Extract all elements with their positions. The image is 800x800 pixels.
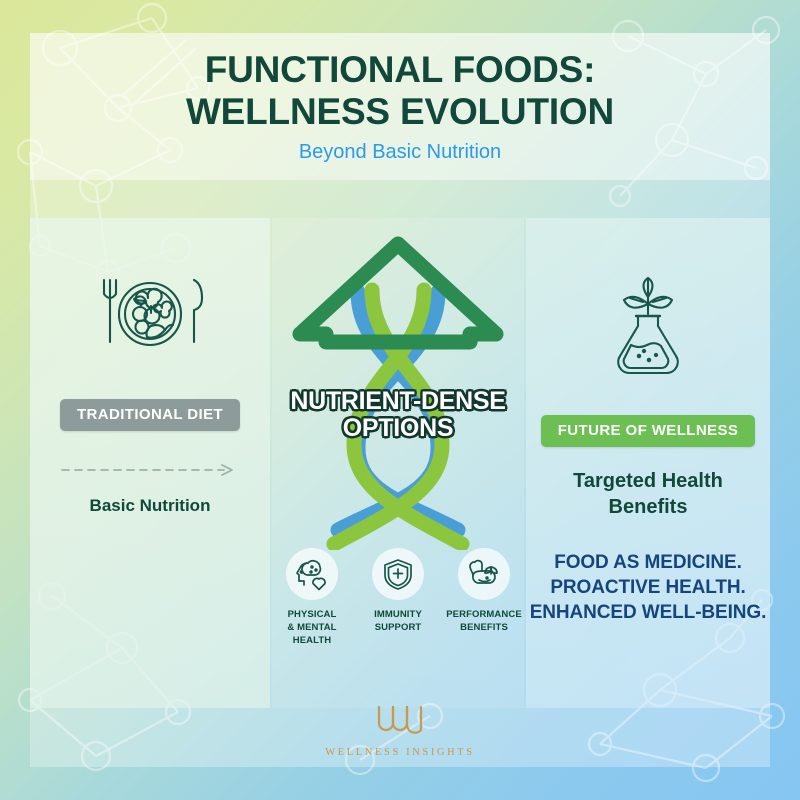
- targeted-health-benefits-heading: Targeted HealthBenefits: [573, 469, 723, 520]
- center-label-line-1: NUTRIENT-DENSE: [290, 387, 505, 415]
- traditional-diet-badge: TRADITIONAL DIET: [60, 399, 240, 431]
- page-title: FUNCTIONAL FOODS: WELLNESS EVOLUTION: [186, 49, 614, 131]
- center-label-line-2: OPTIONS: [343, 414, 453, 442]
- benefit-immunity-support[interactable]: IMMUNITYSUPPORT: [362, 548, 434, 647]
- benefit-label: PHYSICAL& MENTALHEALTH: [287, 609, 336, 647]
- basic-nutrition-label: Basic Nutrition: [90, 496, 211, 516]
- benefit-label: IMMUNITYSUPPORT: [374, 609, 422, 635]
- page-subtitle: Beyond Basic Nutrition: [299, 141, 501, 164]
- benefit-icon-circle: [286, 548, 338, 600]
- benefit-icon-circle: [372, 548, 424, 600]
- tagline: FOOD AS MEDICINE. PROACTIVE HEALTH. ENHA…: [530, 550, 767, 625]
- benefit-performance-benefits[interactable]: PERFORMANCEBENEFITS: [448, 548, 520, 647]
- title-line-1: FUNCTIONAL FOODS:: [205, 49, 596, 90]
- dashed-arrow-right-icon: [60, 463, 240, 482]
- benefit-label: PERFORMANCEBENEFITS: [446, 609, 522, 635]
- header: FUNCTIONAL FOODS: WELLNESS EVOLUTION Bey…: [30, 33, 770, 180]
- traditional-diet-panel: TRADITIONAL DIET Basic Nutrition: [30, 218, 270, 708]
- title-line-2: WELLNESS EVOLUTION: [186, 91, 614, 132]
- nutrient-dense-options-label: NUTRIENT-DENSE OPTIONS: [272, 388, 524, 441]
- future-of-wellness-badge: FUTURE OF WELLNESS: [541, 415, 756, 447]
- tagline-line-3: ENHANCED WELL-BEING.: [530, 602, 767, 623]
- benefits-row: PHYSICAL& MENTALHEALTH IMMUNITYSUPPORT: [272, 548, 524, 647]
- brand-name: WELLNESS INSIGHTS: [325, 747, 475, 758]
- tagline-line-2: PROACTIVE HEALTH.: [550, 577, 745, 598]
- W-monogram-logo: [373, 703, 427, 742]
- plate-with-vegetables-icon: [90, 268, 210, 365]
- benefit-physical-mental-health[interactable]: PHYSICAL& MENTALHEALTH: [276, 548, 348, 647]
- future-of-wellness-panel: FUTURE OF WELLNESS Targeted HealthBenefi…: [526, 218, 770, 708]
- benefit-icon-circle: [458, 548, 510, 600]
- tagline-line-1: FOOD AS MEDICINE.: [554, 552, 742, 573]
- footer-branding: WELLNESS INSIGHTS: [0, 703, 800, 758]
- flask-with-plant-icon: [602, 268, 694, 381]
